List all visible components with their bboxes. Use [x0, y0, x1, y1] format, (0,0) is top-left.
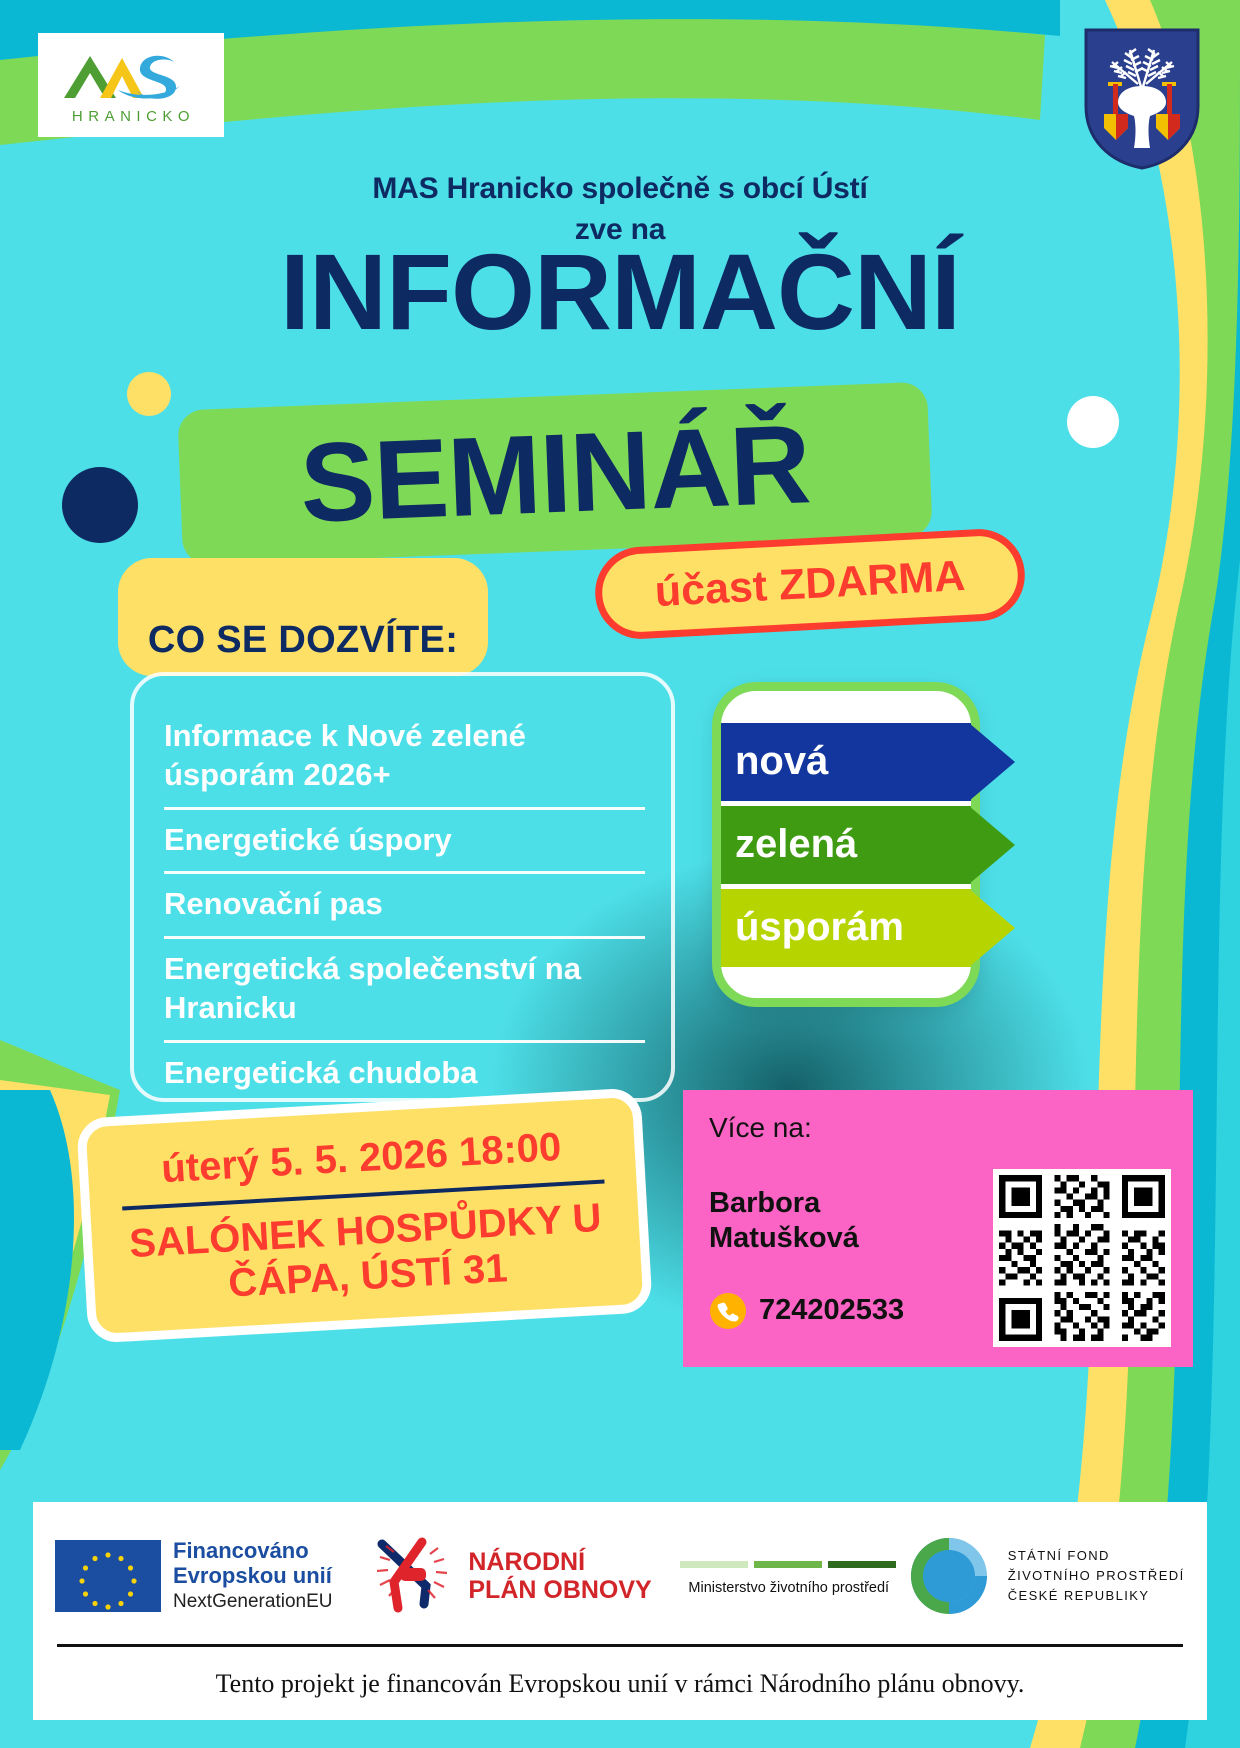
list-item: Energetické úspory [164, 807, 645, 872]
sfzp-line-3: ČESKÉ REPUBLIKY [1008, 1586, 1185, 1606]
sfzp-mark-icon [904, 1530, 994, 1622]
list-item: Energetická společenství na Hranicku [164, 936, 645, 1040]
mas-hranicko-logo: HRANICKO [38, 33, 224, 137]
eu-line-3: NextGenerationEU [173, 1591, 332, 1613]
mzp-bars-icon [674, 1557, 904, 1571]
dot-white-1 [1067, 396, 1119, 448]
narodni-plan-obnovy-logo: NÁRODNÍ PLÁN OBNOVY [364, 1528, 673, 1624]
list-item: Renovační pas [164, 871, 645, 936]
nova-zelena-usporam-logo: nová zelená úsporám [712, 682, 980, 1007]
npo-mark-icon [364, 1528, 460, 1624]
nzu-bar-zelena: zelená [721, 806, 971, 884]
contact-box: Více na: Barbora Matušková 724202533 [683, 1090, 1193, 1367]
npo-line-2: PLÁN OBNOVY [468, 1576, 651, 1604]
contact-phone: 724202533 [759, 1294, 904, 1327]
dot-yellow [127, 372, 171, 416]
eu-funding-logo: Financováno Evropskou unií NextGeneratio… [55, 1539, 364, 1613]
npo-text: NÁRODNÍ PLÁN OBNOVY [468, 1548, 651, 1604]
eu-text: Financováno Evropskou unií NextGeneratio… [173, 1539, 332, 1613]
qr-code[interactable] [993, 1169, 1171, 1347]
usti-crest-icon [1082, 28, 1202, 170]
contact-more-label: Více na: [709, 1112, 1167, 1144]
eu-line-2: Evropskou unií [173, 1564, 332, 1589]
funding-footer: Financováno Evropskou unií NextGeneratio… [33, 1502, 1207, 1720]
mas-logo-wordmark: HRANICKO [67, 108, 195, 125]
dot-navy [62, 467, 138, 543]
list-item: Informace k Nové zelené úsporám 2026+ [164, 706, 645, 807]
agenda-label: CO SE DOZVÍTE: [118, 558, 488, 676]
eu-line-1: Financováno [173, 1539, 332, 1564]
agenda-list: Informace k Nové zelené úsporám 2026+ En… [130, 672, 675, 1102]
phone-icon [709, 1292, 747, 1330]
mzp-text: Ministerstvo životního prostředí [674, 1580, 904, 1596]
sfzp-text: STÁTNÍ FOND ŽIVOTNÍHO PROSTŘEDÍ ČESKÉ RE… [1008, 1546, 1185, 1606]
event-venue: SALÓNEK HOSPŮDKY U ČÁPA, ÚSTÍ 31 [119, 1195, 614, 1312]
nzu-bar-nova: nová [721, 723, 971, 801]
sfzp-line-2: ŽIVOTNÍHO PROSTŘEDÍ [1008, 1566, 1185, 1586]
mas-mark-icon [56, 46, 206, 106]
sfzp-logo: STÁTNÍ FOND ŽIVOTNÍHO PROSTŘEDÍ ČESKÉ RE… [904, 1530, 1185, 1622]
eu-flag-icon [55, 1540, 161, 1612]
sfzp-line-1: STÁTNÍ FOND [1008, 1546, 1185, 1566]
mzp-logo: Ministerstvo životního prostředí [674, 1557, 904, 1596]
npo-line-1: NÁRODNÍ [468, 1548, 651, 1576]
footer-logos: Financováno Evropskou unií NextGeneratio… [55, 1520, 1185, 1632]
invite-line-1: MAS Hranicko společně s obcí Ústí [0, 168, 1240, 209]
nzu-bar-usporam: úsporám [721, 889, 971, 967]
footer-divider [57, 1644, 1183, 1647]
footer-note: Tento projekt je financován Evropskou un… [55, 1669, 1185, 1699]
page-title-line-1: INFORMAČNÍ [0, 238, 1240, 346]
event-details-box: úterý 5. 5. 2026 18:00 SALÓNEK HOSPŮDKY … [76, 1087, 653, 1343]
